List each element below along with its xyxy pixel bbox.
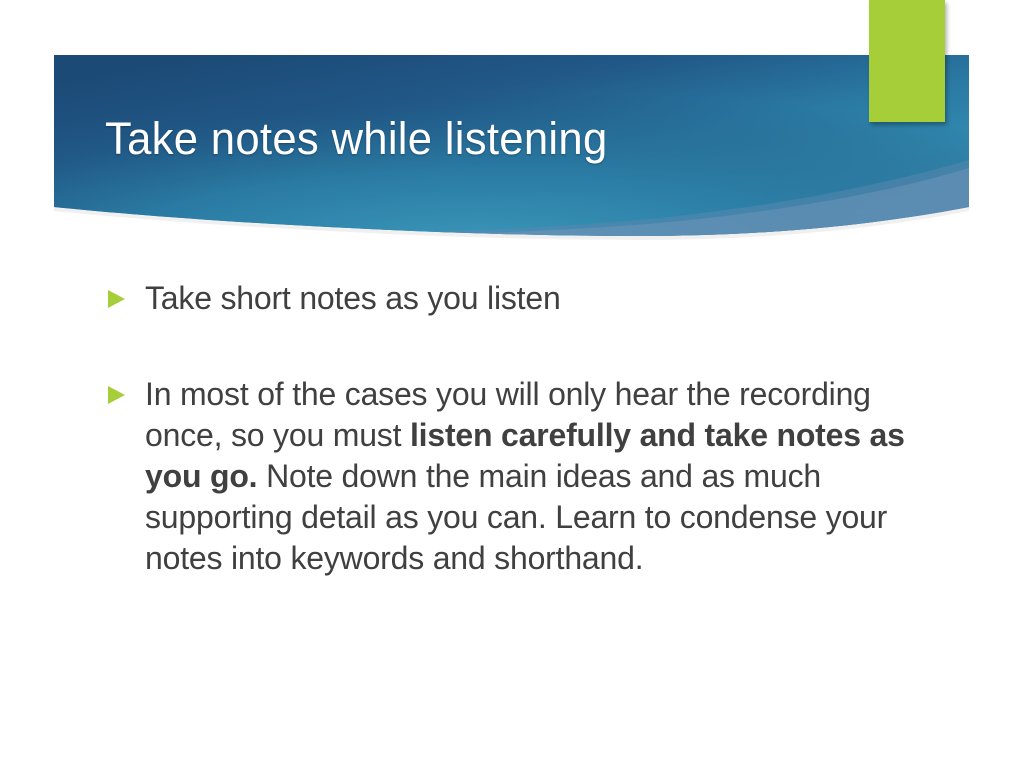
green-accent-rectangle [869, 0, 945, 122]
page-title: Take notes while listening [105, 112, 900, 166]
triangle-right-icon [108, 386, 125, 404]
list-item-text: In most of the cases you will only hear … [145, 374, 928, 579]
list-item: In most of the cases you will only hear … [98, 374, 928, 579]
list-item: Take short notes as you listen [98, 278, 928, 319]
plain-text: Take short notes as you listen [145, 280, 561, 316]
slide-body-content: Take short notes as you listen In most o… [98, 278, 928, 579]
list-item-text: Take short notes as you listen [145, 278, 928, 319]
presentation-slide: Take notes while listening Take short no… [0, 0, 1024, 767]
plain-text: Note down the main ideas and as much sup… [145, 458, 887, 576]
triangle-right-icon [108, 290, 125, 308]
